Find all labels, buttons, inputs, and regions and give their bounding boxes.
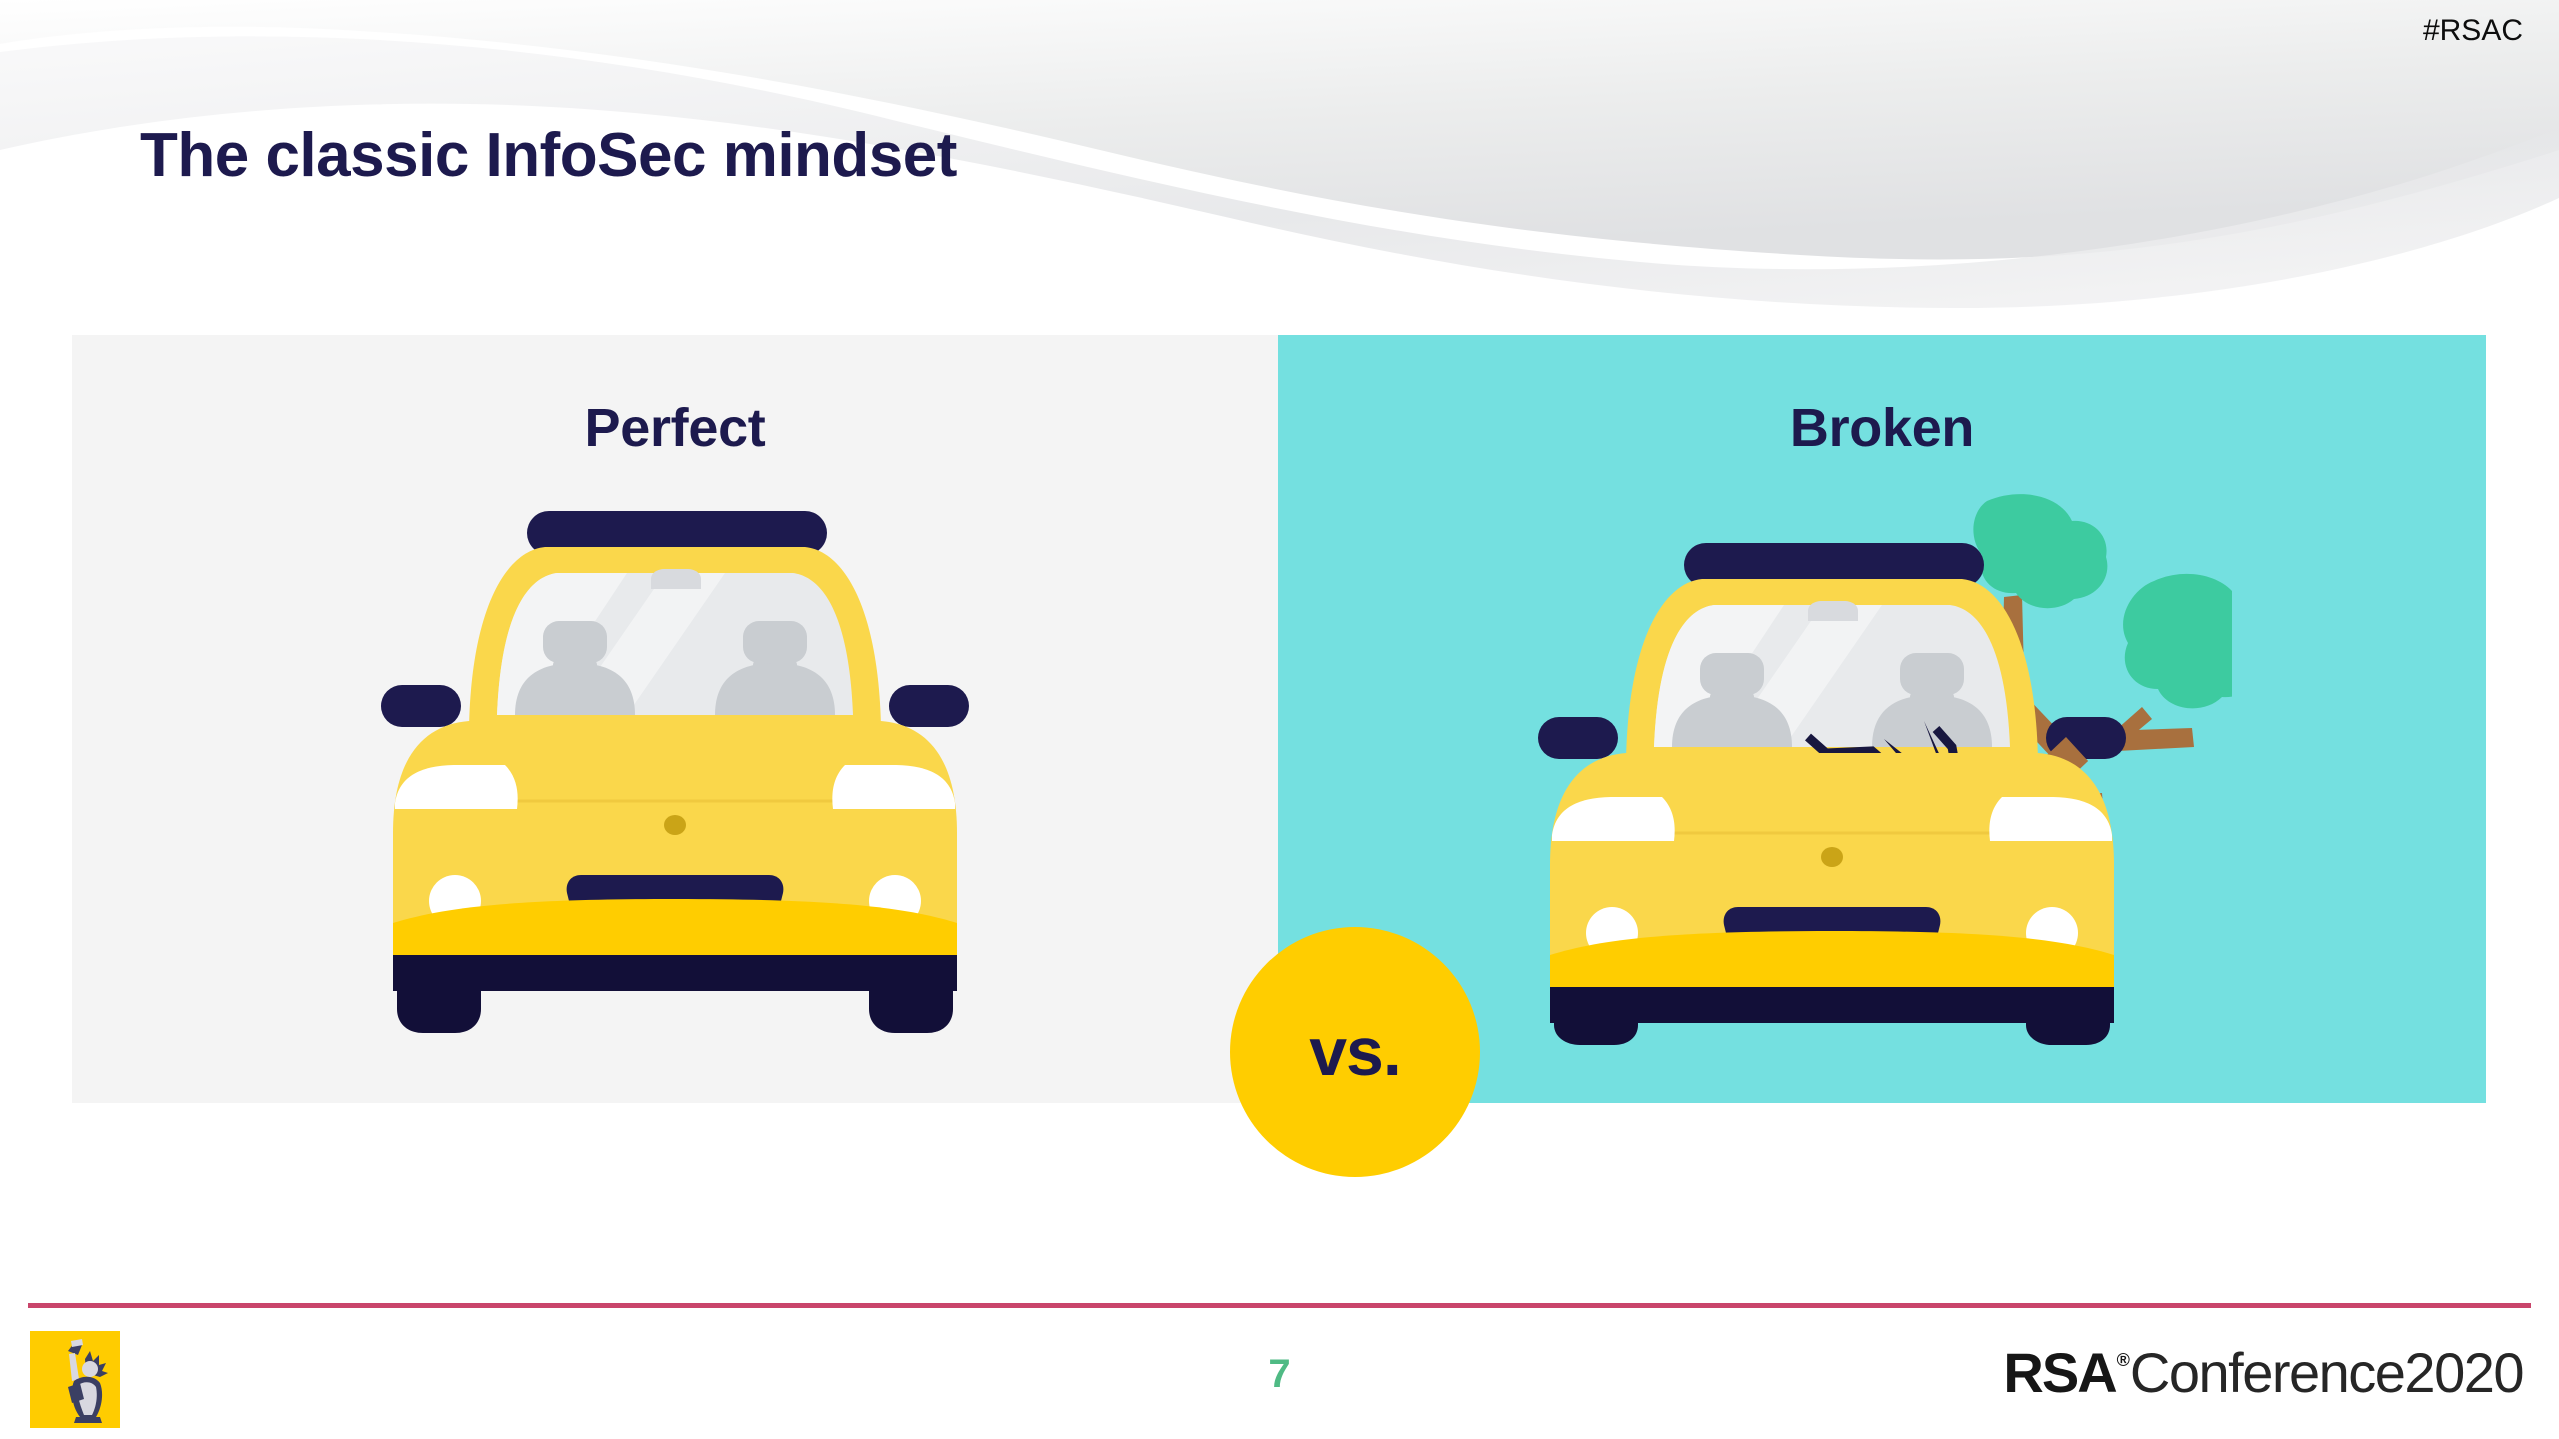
rsa-wordmark: RSA: [2003, 1340, 2115, 1405]
panel-perfect: Perfect: [72, 335, 1278, 1103]
conference-wordmark: Conference2020: [2130, 1340, 2523, 1405]
vs-badge: vs.: [1230, 927, 1480, 1177]
rsac-hashtag: #RSAC: [2423, 14, 2523, 48]
comparison-container: Perfect: [72, 335, 2486, 1103]
vs-label: vs.: [1309, 1018, 1401, 1086]
panel-label-broken: Broken: [1278, 397, 2486, 459]
car-illustration-perfect: [365, 503, 985, 1043]
footer-divider: [28, 1303, 2531, 1308]
page-title: The classic InfoSec mindset: [140, 120, 957, 191]
panel-label-perfect: Perfect: [72, 397, 1278, 459]
rsa-conference-logo: RSA ® Conference2020: [2003, 1340, 2523, 1405]
registered-trademark-icon: ®: [2117, 1350, 2130, 1371]
car-illustration-broken: [1532, 485, 2232, 1045]
